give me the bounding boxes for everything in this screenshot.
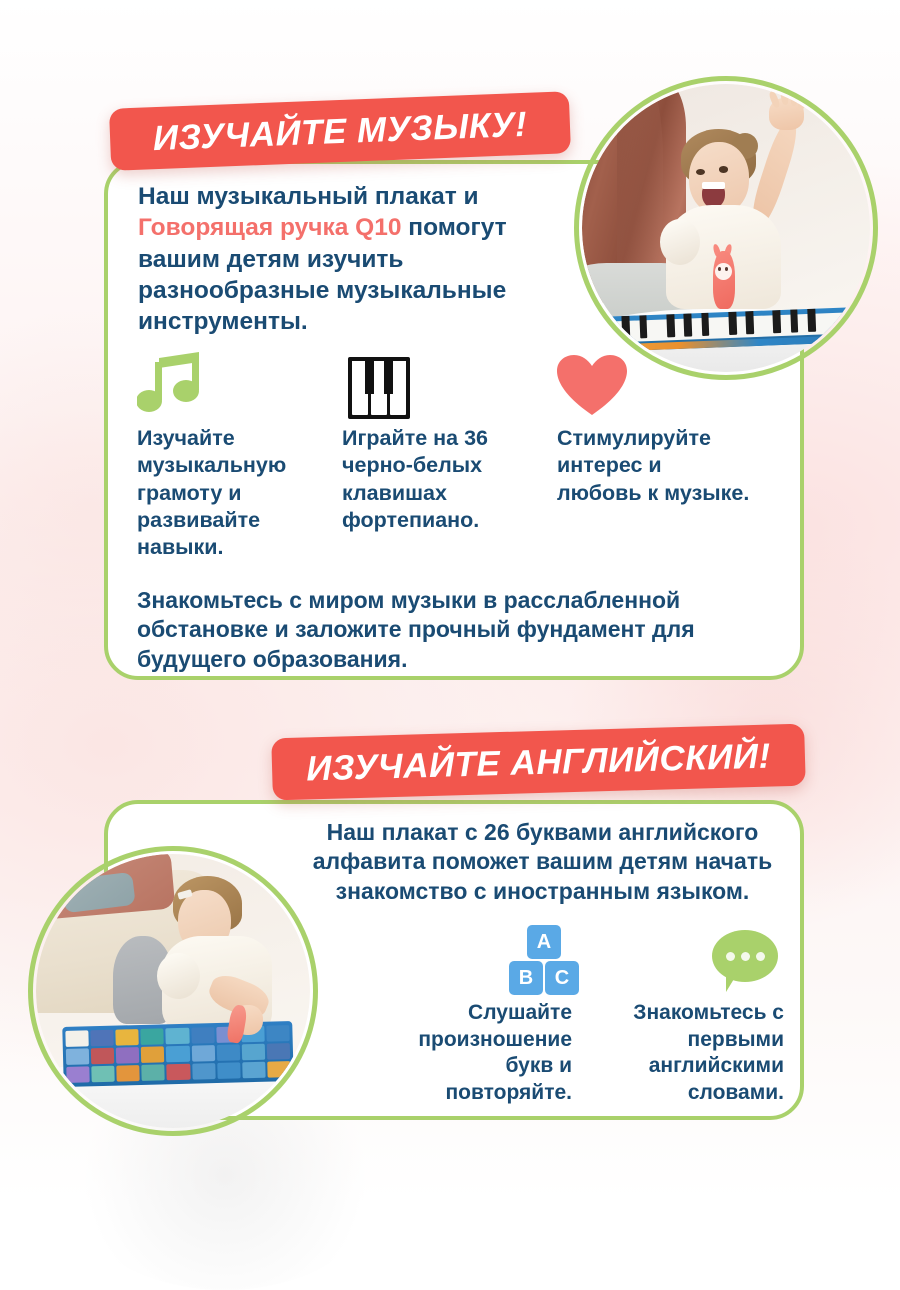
abc-block-c: C xyxy=(545,961,579,995)
english-banner-label: ИЗУЧАЙТЕ АНГЛИЙСКИЙ! xyxy=(306,738,771,786)
speech-bubble-icon xyxy=(712,930,778,982)
music-photo xyxy=(582,84,870,372)
music-intro-paragraph: Наш музыкальный плакат и Говорящая ручка… xyxy=(138,181,558,338)
music-feature-3-caption: Стимулируйте интерес и любовь к музыке. xyxy=(557,425,792,507)
english-intro-paragraph: Наш плакат с 26 буквами английского алфа… xyxy=(290,818,795,906)
music-footer-line-2: обстановке и заложите прочный фундамент … xyxy=(137,615,797,644)
music-intro-line-5: инструменты. xyxy=(138,306,558,337)
abc-blocks-icon: A B C xyxy=(505,925,589,995)
music-banner-label: ИЗУЧАЙТЕ МУЗЫКУ! xyxy=(152,106,528,155)
music-intro-line-3: вашим детям изучить xyxy=(138,244,558,275)
music-footer-paragraph: Знакомьтесь с миром музыки в расслабленн… xyxy=(137,586,797,674)
english-photo xyxy=(36,854,310,1128)
heart-icon xyxy=(557,355,627,417)
bubble-dot-3 xyxy=(756,952,765,961)
abc-block-b: B xyxy=(509,961,543,995)
english-feature-2-caption: Знакомьтесь с первыми английскими словам… xyxy=(594,1000,784,1107)
music-feature-1-caption: Изучайте музыкальную грамоту и развивайт… xyxy=(137,425,332,561)
bubble-dot-2 xyxy=(741,952,750,961)
music-intro-line-4: разнообразные музыкальные xyxy=(138,275,558,306)
music-intro-line-2: Говорящая ручка Q10 помогут xyxy=(138,212,558,243)
english-feature-1-caption: Слушайте произношение букв и повторяйте. xyxy=(368,1000,572,1107)
english-intro-line-2: алфавита поможет вашим детям начать xyxy=(290,847,795,876)
piano-keys-icon xyxy=(348,357,410,419)
product-name-accent: Говорящая ручка Q10 xyxy=(138,214,401,241)
music-note-icon xyxy=(137,352,207,414)
english-intro-line-1: Наш плакат с 26 буквами английского xyxy=(290,818,795,847)
music-footer-line-1: Знакомьтесь с миром музыки в расслабленн… xyxy=(137,586,797,615)
music-intro-line-1: Наш музыкальный плакат и xyxy=(138,181,558,212)
abc-block-a: A xyxy=(527,925,561,959)
english-intro-line-3: знакомство с иностранным языком. xyxy=(290,877,795,906)
music-footer-line-3: будущего образования. xyxy=(137,645,797,674)
bubble-dot-1 xyxy=(726,952,735,961)
bubble-tail xyxy=(726,974,737,992)
music-intro-line-2-tail: помогут xyxy=(401,214,506,241)
music-feature-2-caption: Играйте на 36 черно-белых клавишах форте… xyxy=(342,425,542,534)
